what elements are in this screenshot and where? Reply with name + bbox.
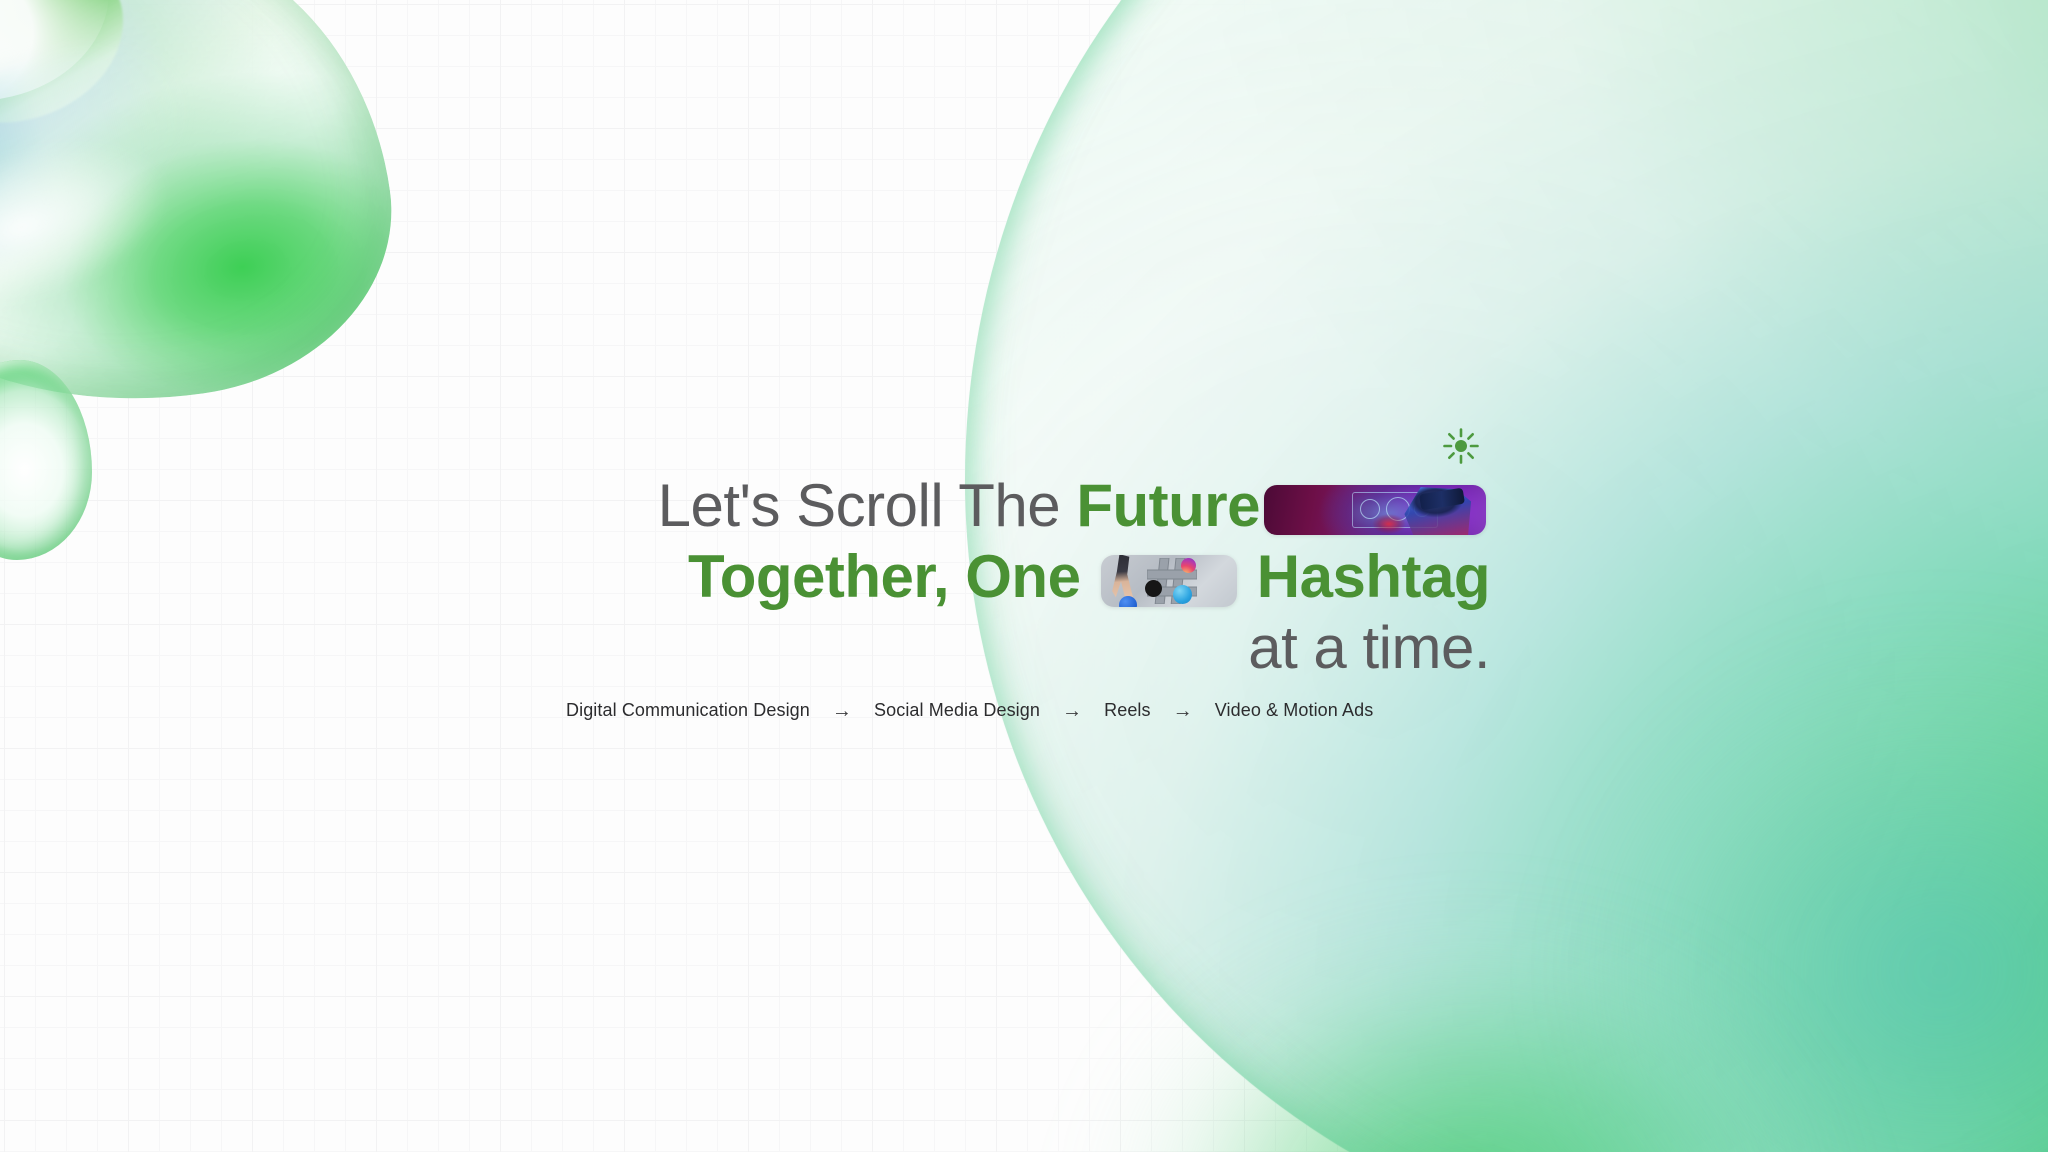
headline-line-3: at a time.: [480, 612, 1490, 683]
arrow-right-icon: →: [828, 701, 856, 721]
headline-line2-green-after: Hashtag: [1241, 543, 1490, 610]
vr-futuristic-thumbnail[interactable]: [1264, 485, 1486, 535]
hashtag-person-figure: [1111, 555, 1137, 598]
breadcrumb-item-social-media-design[interactable]: Social Media Design: [874, 700, 1040, 721]
headline-line-2: Together, One Hashtag: [480, 541, 1490, 612]
facebook-icon: [1119, 596, 1137, 607]
arrow-right-icon: →: [1058, 701, 1086, 721]
headline-line3-gray: at a time.: [1248, 614, 1490, 681]
arrow-right-icon: →: [1169, 701, 1197, 721]
instagram-icon: [1181, 558, 1196, 573]
hero-section: Let's Scroll The Future Together, One: [0, 0, 2048, 1152]
headline-line1-gray: Let's Scroll The: [658, 472, 1077, 539]
hero-headline: Let's Scroll The Future Together, One: [480, 470, 1490, 683]
twitter-icon: [1173, 585, 1192, 604]
sun-sparkle-icon: [1443, 428, 1479, 464]
breadcrumb: Digital Communication Design → Social Me…: [566, 700, 1373, 721]
headline-line1-green: Future: [1076, 472, 1260, 539]
hashtag-social-thumbnail[interactable]: [1101, 555, 1237, 607]
headline-line2-green-before: Together, One: [688, 543, 1097, 610]
breadcrumb-item-reels[interactable]: Reels: [1104, 700, 1151, 721]
breadcrumb-item-video-motion-ads[interactable]: Video & Motion Ads: [1215, 700, 1374, 721]
headline-line-1: Let's Scroll The Future: [480, 470, 1490, 541]
tiktok-icon: [1145, 580, 1162, 597]
breadcrumb-item-digital-communication-design[interactable]: Digital Communication Design: [566, 700, 810, 721]
vr-red-glow: [1372, 514, 1406, 534]
